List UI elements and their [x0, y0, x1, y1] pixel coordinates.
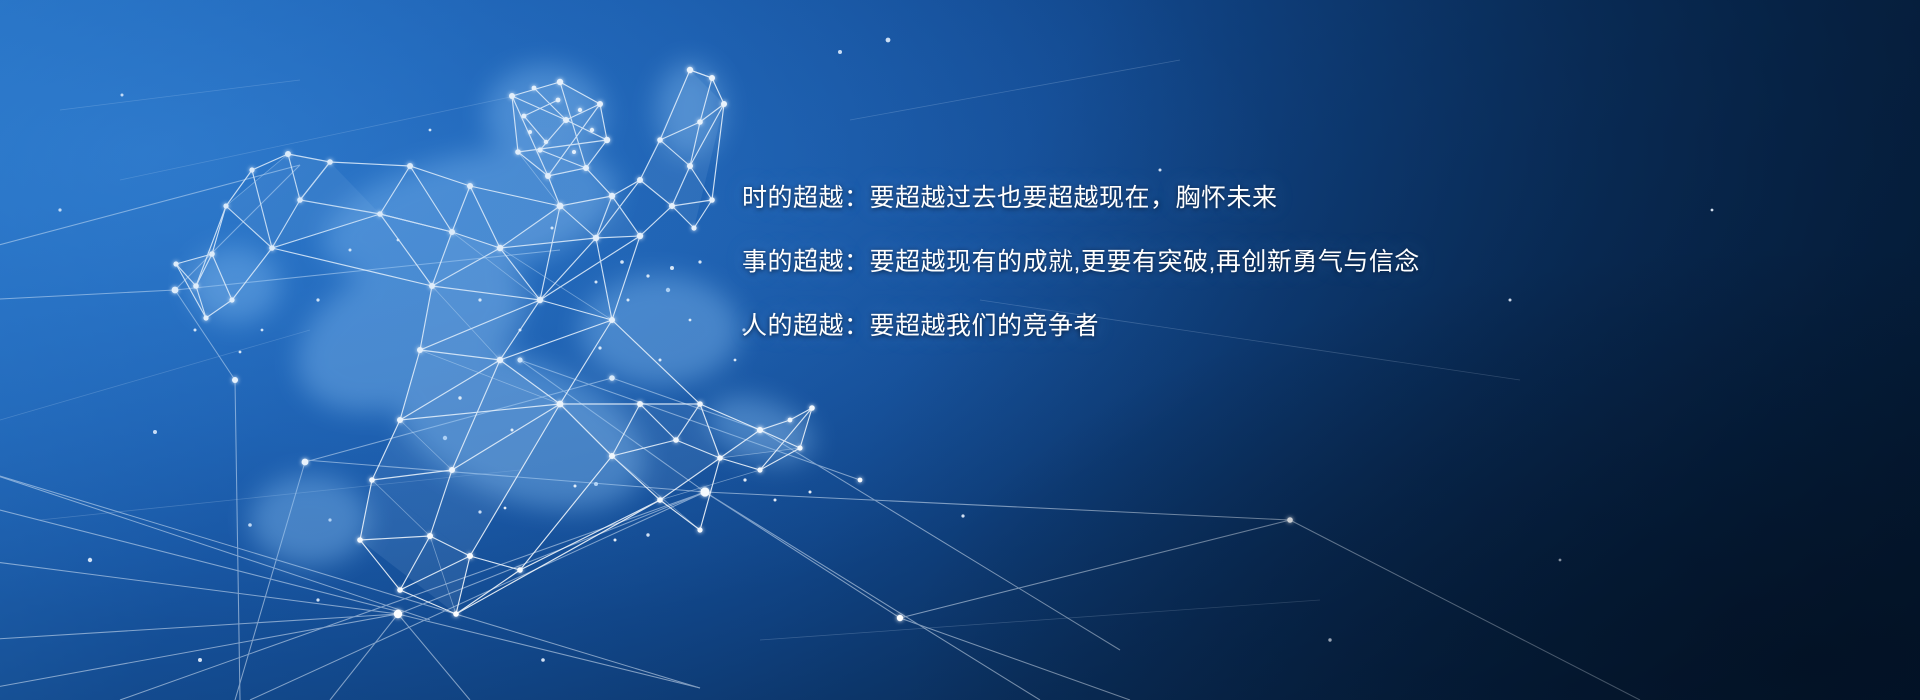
slogan-line-people: 人的超越：要超越我们的竞争者 — [742, 314, 1502, 339]
slogan-line-matter: 事的超越：要超越现有的成就,更要有突破,再创新勇气与信念 — [742, 250, 1502, 275]
slogan-line-time: 时的超越：要超越过去也要超越现在，胸怀未来 — [742, 186, 1502, 211]
slogan-text-block: 时的超越：要超越过去也要超越现在，胸怀未来 事的超越：要超越现有的成就,更要有突… — [742, 186, 1502, 339]
background-vignette — [0, 0, 1920, 700]
banner-stage: 时的超越：要超越过去也要超越现在，胸怀未来 事的超越：要超越现有的成就,更要有突… — [0, 0, 1920, 700]
